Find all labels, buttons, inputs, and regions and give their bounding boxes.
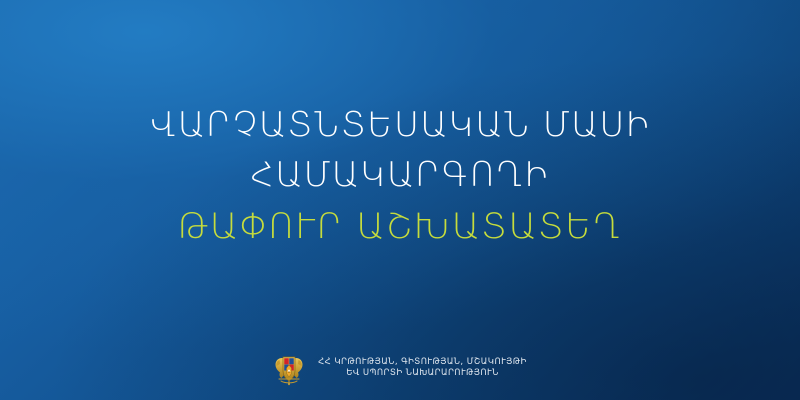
- ministry-name: ՀՀ ԿՐԹՈՒԹՅԱՆ, ԳԻՏՈՒԹՅԱՆ, ՄՇԱԿՈՒՅԹԻ ԵՎ ՍՊ…: [318, 357, 527, 380]
- ministry-name-line-1: ՀՀ ԿՐԹՈՒԹՅԱՆ, ԳԻՏՈՒԹՅԱՆ, ՄՇԱԿՈՒՅԹԻ: [318, 357, 527, 368]
- ministry-lockup: ՀՀ ԿՐԹՈՒԹՅԱՆ, ԳԻՏՈՒԹՅԱՆ, ՄՇԱԿՈՒՅԹԻ ԵՎ ՍՊ…: [0, 350, 800, 386]
- armenia-coat-of-arms-icon: [273, 350, 305, 386]
- headline-line-1: ՎԱՐՉԱՏՆՏԵՍԱԿԱՆ ՄԱՍԻ: [149, 108, 650, 142]
- headline-line-2: ՀԱՄԱԿԱՐԳՈՂԻ: [251, 158, 550, 192]
- headline-block: ՎԱՐՉԱՏՆՏԵՍԱԿԱՆ ՄԱՍԻ ՀԱՄԱԿԱՐԳՈՂԻ ԹԱՓՈՒՐ Ա…: [0, 108, 800, 245]
- banner-content: ՎԱՐՉԱՏՆՏԵՍԱԿԱՆ ՄԱՍԻ ՀԱՄԱԿԱՐԳՈՂԻ ԹԱՓՈՒՐ Ա…: [0, 0, 800, 400]
- announcement-banner: ՎԱՐՉԱՏՆՏԵՍԱԿԱՆ ՄԱՍԻ ՀԱՄԱԿԱՐԳՈՂԻ ԹԱՓՈՒՐ Ա…: [0, 0, 800, 400]
- ministry-name-line-2: ԵՎ ՍՊՈՐՏԻ ՆԱԽԱՐԱՐՈՒԹՅՈՒՆ: [346, 368, 498, 379]
- headline-line-3-accent: ԹԱՓՈՒՐ ԱՇԽԱՏԱՏԵՂ: [178, 210, 623, 245]
